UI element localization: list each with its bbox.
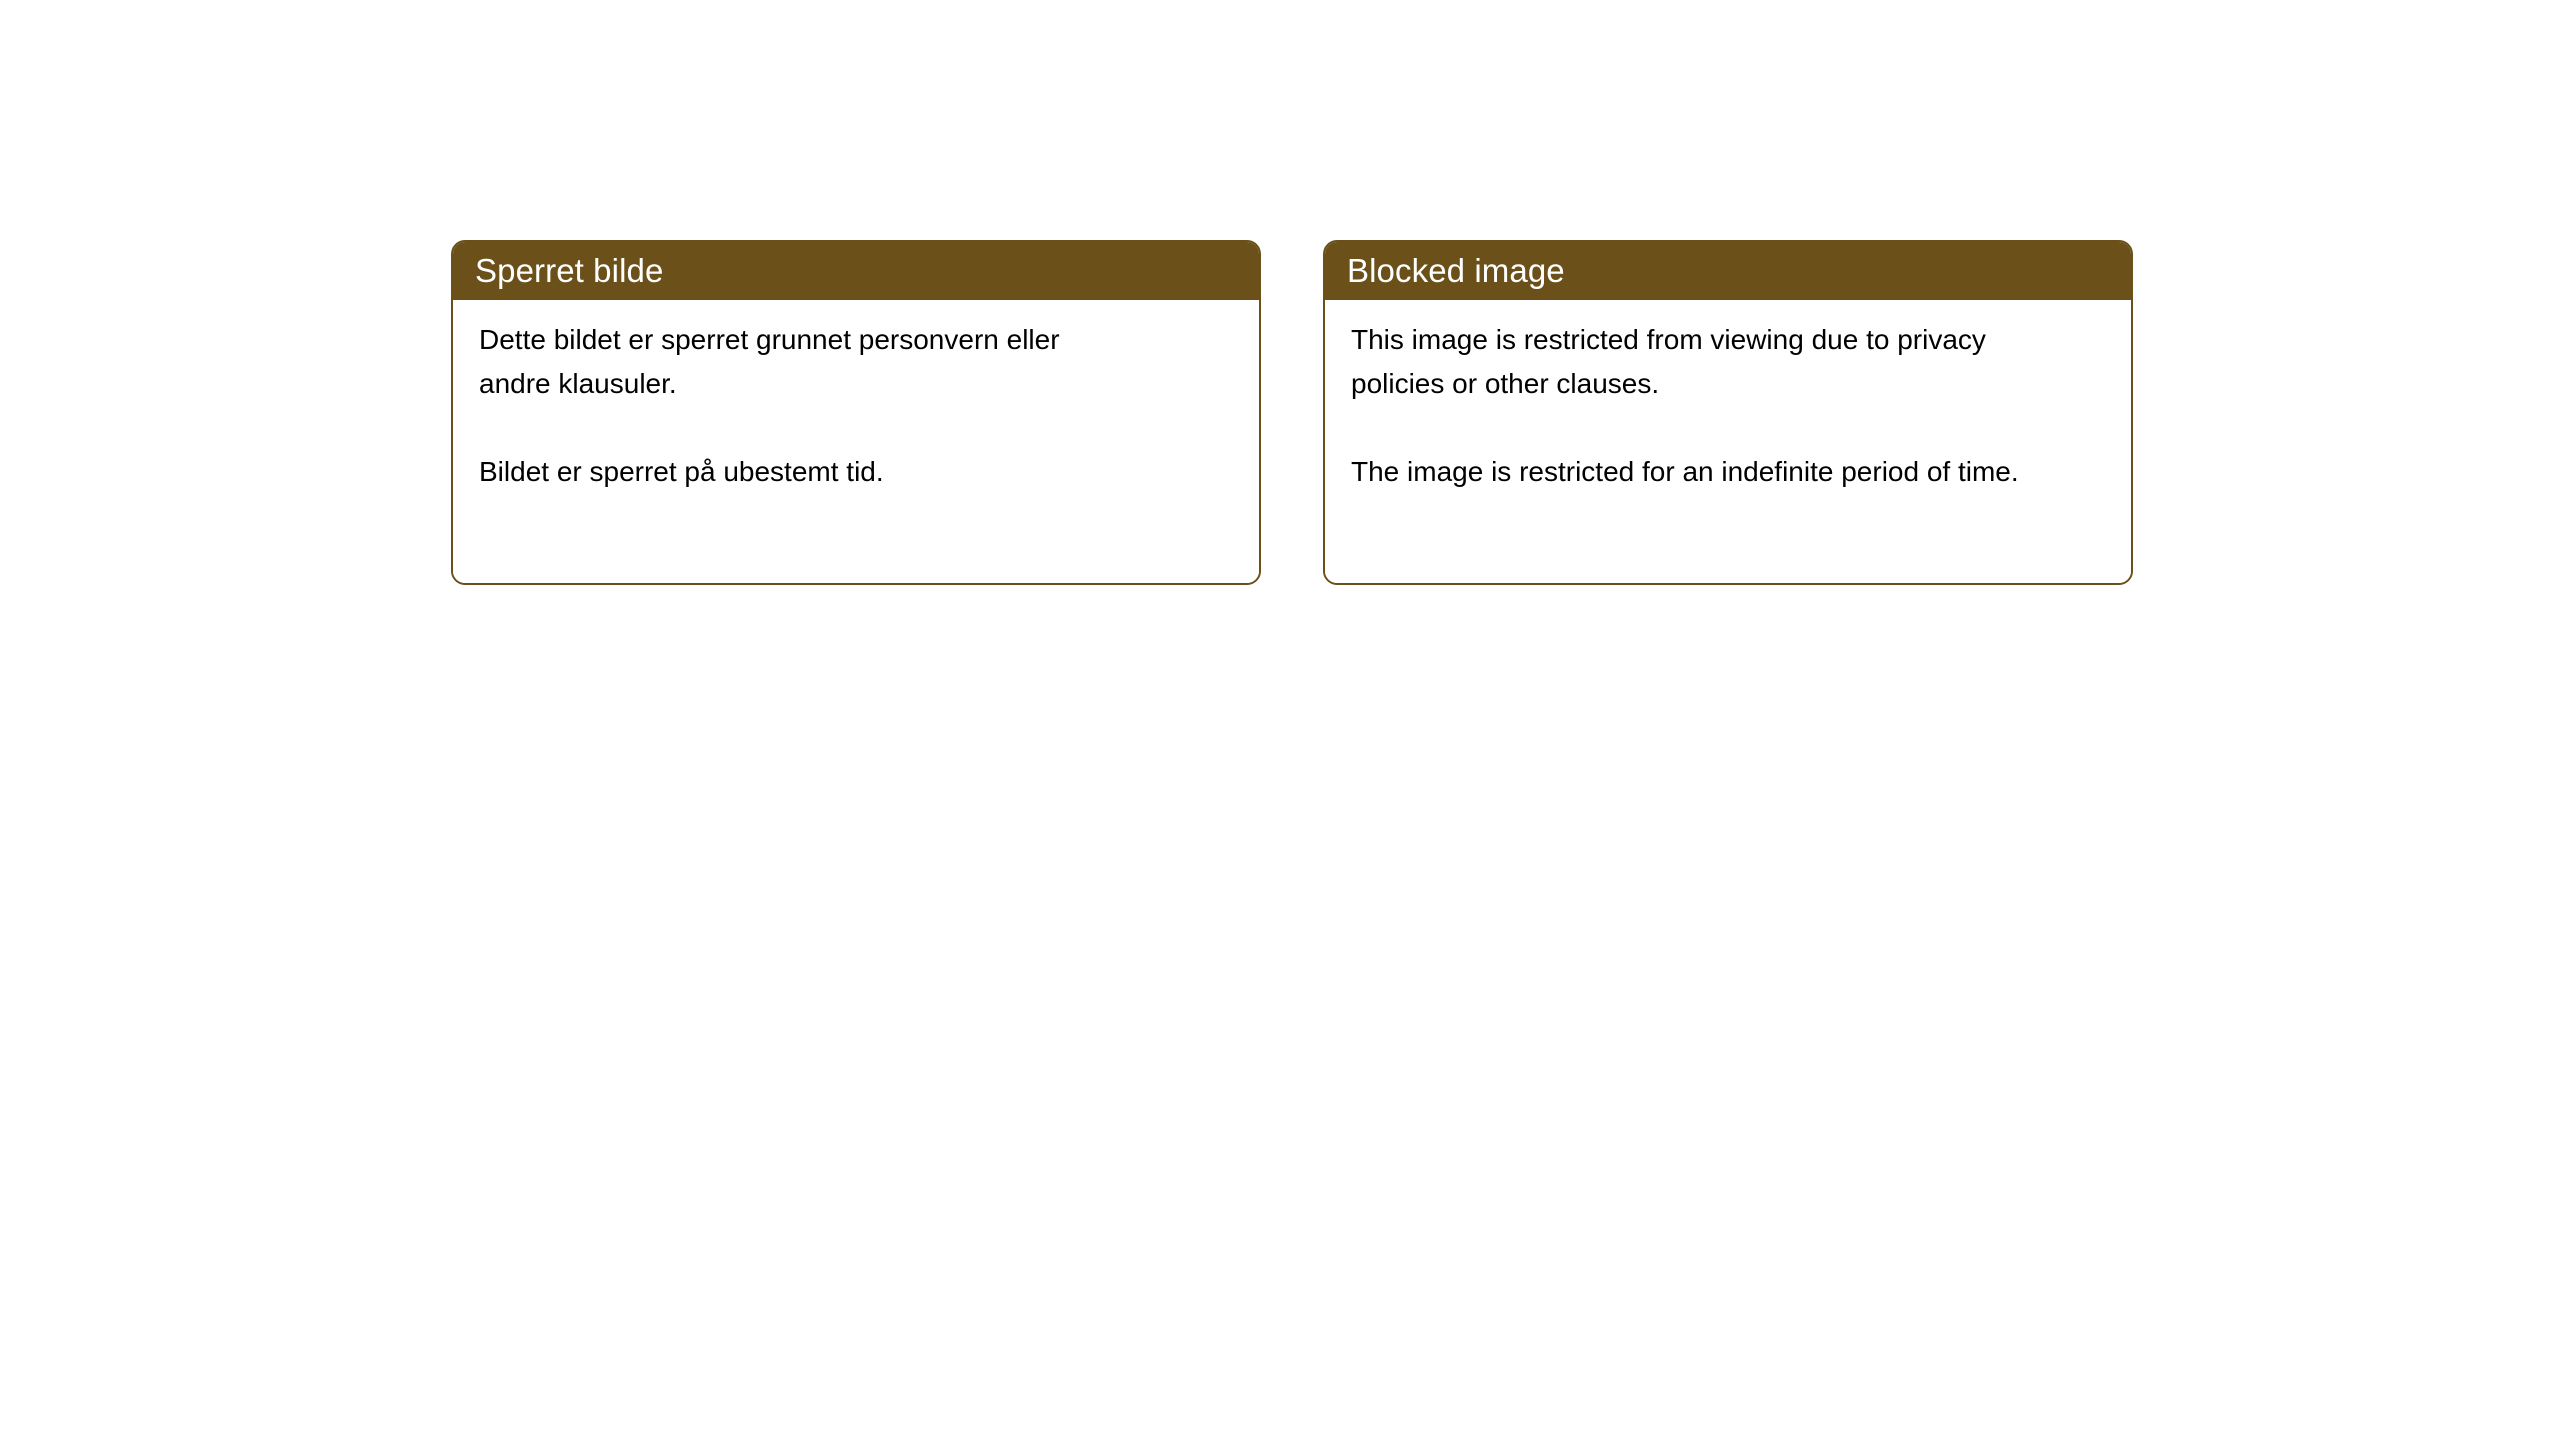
blocked-image-notice-card-english: Blocked image This image is restricted f… bbox=[1323, 240, 2133, 585]
card-body-norwegian: Dette bildet er sperret grunnet personve… bbox=[453, 300, 1259, 583]
notice-cards-container: Sperret bilde Dette bildet er sperret gr… bbox=[451, 240, 2133, 585]
page-root: Sperret bilde Dette bildet er sperret gr… bbox=[0, 0, 2560, 1440]
card-title-norwegian: Sperret bilde bbox=[475, 254, 663, 287]
card-paragraph-norwegian-1: Dette bildet er sperret grunnet personve… bbox=[479, 318, 1099, 406]
blocked-image-notice-card-norwegian: Sperret bilde Dette bildet er sperret gr… bbox=[451, 240, 1261, 585]
card-header-english: Blocked image bbox=[1323, 240, 2133, 300]
card-paragraph-english-1: This image is restricted from viewing du… bbox=[1351, 318, 2051, 406]
card-header-norwegian: Sperret bilde bbox=[451, 240, 1261, 300]
card-body-english: This image is restricted from viewing du… bbox=[1325, 300, 2131, 583]
card-paragraph-norwegian-2: Bildet er sperret på ubestemt tid. bbox=[479, 450, 1099, 494]
card-title-english: Blocked image bbox=[1347, 254, 1565, 287]
card-paragraph-english-2: The image is restricted for an indefinit… bbox=[1351, 450, 2051, 494]
